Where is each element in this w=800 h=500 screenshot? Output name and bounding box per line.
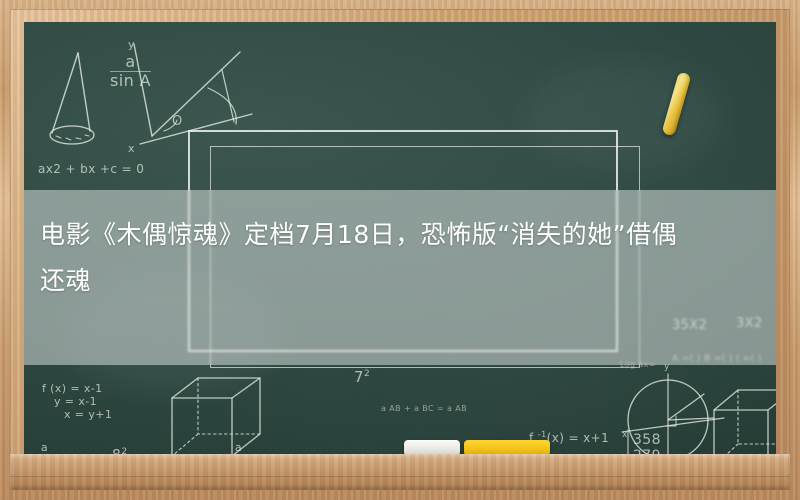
headline-line-2: 还魂 [24, 258, 776, 304]
angle-label-o: O [172, 114, 183, 129]
inverse-rest: (x) = x+1 [547, 431, 610, 445]
screenshot-root: a sin A ax2 + bx +c = 0 y x O [0, 0, 800, 500]
yellow-chalk-stick [661, 71, 691, 136]
ledge-groove [10, 476, 790, 477]
law-of-sines-formula: a sin A [110, 54, 151, 90]
power-seven: 72 [354, 368, 370, 386]
power-exponent: 2 [364, 369, 370, 379]
circle-with-axes-sketch [620, 360, 740, 456]
angle-sketch [112, 36, 262, 161]
headline-line-1: 电影《木偶惊魂》定档7月18日，恐怖版“消失的她”借偶 [24, 212, 776, 258]
fraction-numerator: a [224, 442, 253, 454]
fraction-numerator: a [30, 442, 59, 454]
quadratic-equation: ax2 + bx +c = 0 [38, 162, 144, 176]
function-x: x = y+1 [42, 408, 112, 421]
cube-sketch-right [708, 384, 776, 456]
chalk-smudge [524, 62, 724, 172]
axis-label-y: y [128, 38, 135, 51]
inverse-exponent: -1 [538, 430, 547, 439]
function-f: f (x) = x-1 [42, 382, 112, 395]
fraction-denominator: sin A [110, 71, 151, 90]
axis-label-x-right: x [622, 430, 628, 440]
power-base: 7 [354, 368, 364, 386]
cube-sketch-left [164, 372, 274, 456]
function-definitions: f (x) = x-1 y = x-1 x = y+1 [42, 382, 112, 421]
dividend: 358 [633, 432, 661, 448]
function-y: y = x-1 [42, 395, 112, 408]
fraction-numerator: a [110, 54, 151, 71]
chalk-ledge [10, 454, 790, 490]
vector-sum-expression: a AB + a BC = a AB [381, 404, 467, 413]
headline-overlay-band: 电影《木偶惊魂》定档7月18日，恐怖版“消失的她”借偶 还魂 [24, 190, 776, 365]
chalkboard: a sin A ax2 + bx +c = 0 y x O [24, 22, 776, 456]
axis-label-x: x [128, 142, 135, 155]
cone-sketch [36, 47, 116, 157]
division-calculation: 358 279 637 [633, 432, 661, 456]
